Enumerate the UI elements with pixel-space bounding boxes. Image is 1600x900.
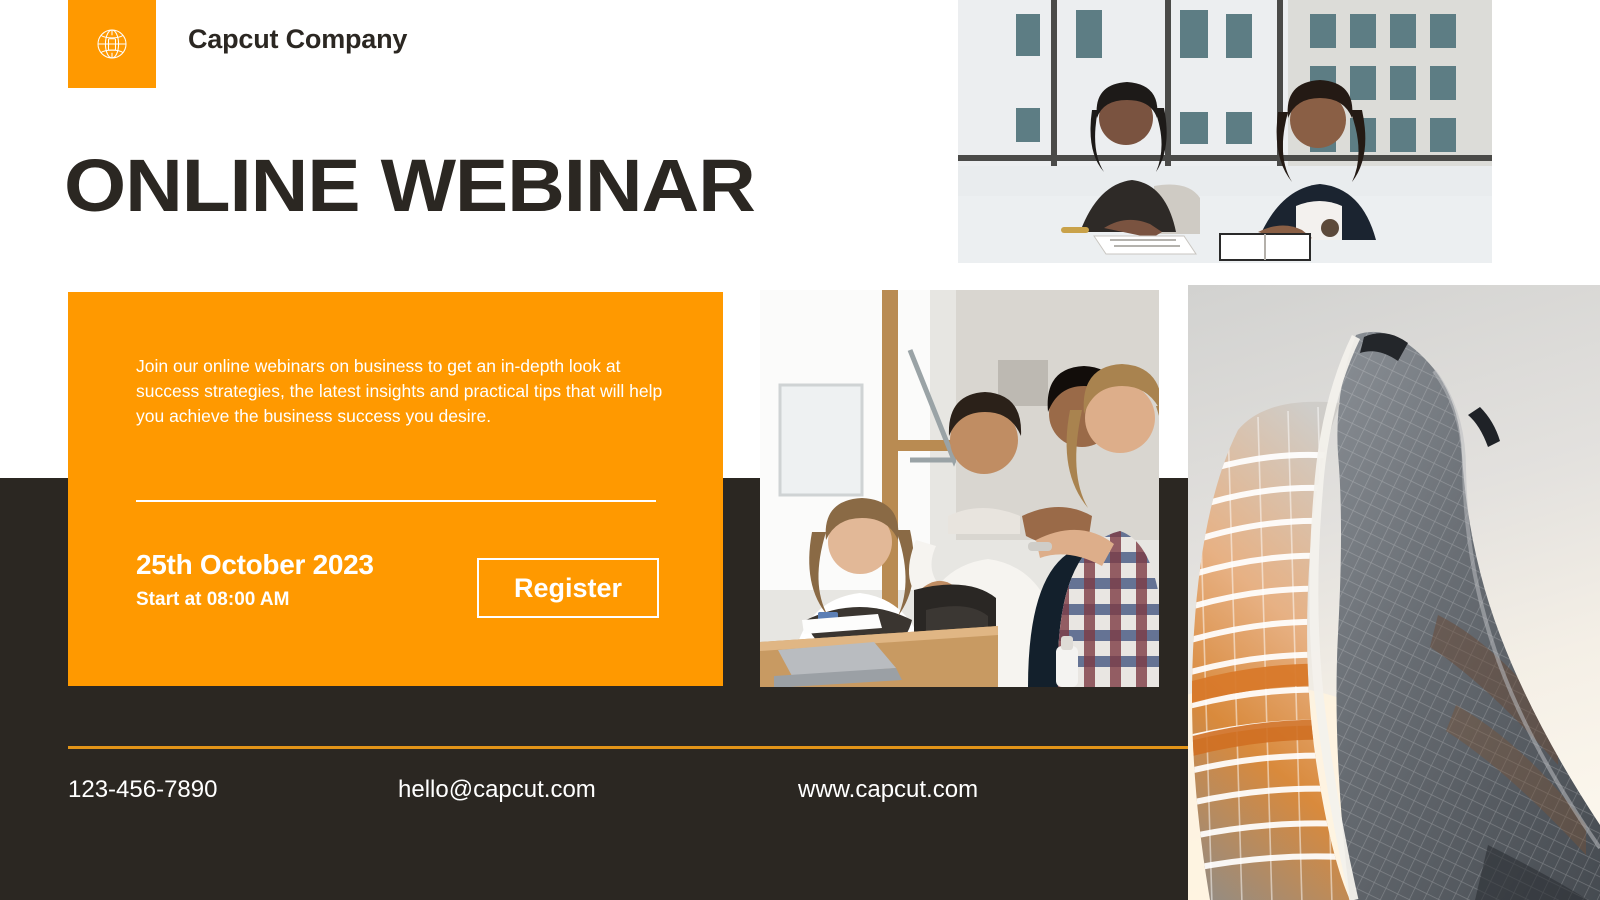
contact-phone[interactable]: 123-456-7890 xyxy=(68,776,217,804)
two-women-meeting-photo xyxy=(958,0,1492,263)
footer-contacts: 123-456-7890 hello@capcut.com www.capcut… xyxy=(68,776,1188,816)
webinar-description: Join our online webinars on business to … xyxy=(136,354,666,429)
footer-divider xyxy=(68,746,1188,749)
logo-badge xyxy=(68,0,156,88)
contact-website[interactable]: www.capcut.com xyxy=(798,776,978,804)
company-name: Capcut Company xyxy=(188,24,407,55)
contact-email[interactable]: hello@capcut.com xyxy=(398,776,596,804)
page-title: ONLINE WEBINAR xyxy=(64,149,755,223)
event-start-time: Start at 08:00 AM xyxy=(136,589,289,611)
webinar-info-card: Join our online webinars on business to … xyxy=(68,292,723,686)
globe-icon xyxy=(91,23,133,65)
skyscraper-photo xyxy=(1188,285,1600,900)
event-date: 25th October 2023 xyxy=(136,549,374,581)
team-collaboration-photo xyxy=(760,290,1159,687)
register-button[interactable]: Register xyxy=(477,558,659,618)
card-divider xyxy=(136,500,656,502)
